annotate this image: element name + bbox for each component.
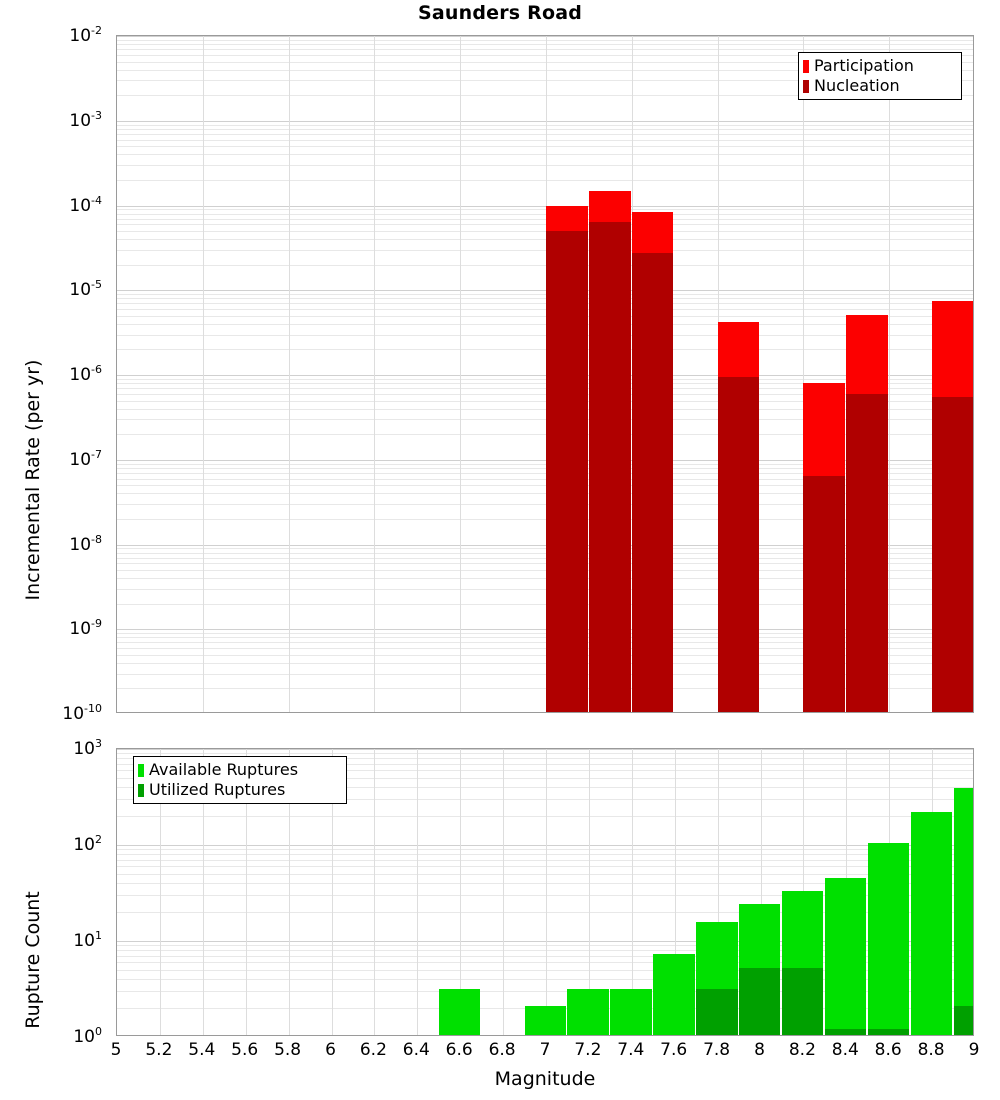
nucleation-segment	[589, 222, 631, 712]
rupture-bar	[954, 749, 974, 1035]
x-axis-tick-label: 7	[540, 1040, 551, 1060]
y-axis-tick-label: 10-5	[0, 278, 108, 300]
available-ruptures-segment	[653, 954, 694, 1035]
chart-page: Saunders Road 10-210-310-410-510-610-710…	[0, 0, 1000, 1100]
rate-bar	[589, 36, 631, 712]
available-ruptures-segment	[954, 788, 974, 1035]
available-ruptures-segment	[911, 812, 952, 1035]
rupture-bar	[610, 749, 651, 1035]
rate-bar	[846, 36, 888, 712]
rupture-bar	[739, 749, 780, 1035]
legend-label-utilized-ruptures: Utilized Ruptures	[149, 780, 285, 800]
x-axis-tick-label: 8.6	[875, 1040, 902, 1060]
available-ruptures-segment	[439, 989, 480, 1035]
utilized-ruptures-segment	[868, 1029, 909, 1035]
rupture-bar	[567, 749, 608, 1035]
y-axis-tick-label: 10-8	[0, 533, 108, 555]
x-axis-tick-label: 7.4	[617, 1040, 644, 1060]
x-axis-tick-label: 5	[111, 1040, 122, 1060]
legend-item-nucleation: Nucleation	[803, 76, 956, 96]
legend-item-utilized-ruptures: Utilized Ruptures	[138, 780, 341, 800]
rupture-bar	[525, 749, 566, 1035]
x-axis-tick-label: 8.2	[789, 1040, 816, 1060]
nucleation-segment	[546, 231, 588, 712]
available-ruptures-segment	[610, 989, 651, 1035]
y-axis-tick-label: 100	[0, 1025, 108, 1047]
nucleation-segment	[932, 397, 974, 712]
rate-bar	[803, 36, 845, 712]
top-y-axis-title: Incremental Rate (per yr)	[22, 360, 44, 601]
rupture-bar	[696, 749, 737, 1035]
bottom-y-axis-title: Rupture Count	[22, 891, 44, 1029]
legend-item-available-ruptures: Available Ruptures	[138, 760, 341, 780]
legend-label-nucleation: Nucleation	[814, 76, 900, 96]
nucleation-segment	[632, 253, 674, 712]
incremental-rate-plot	[116, 35, 974, 713]
x-axis-tick-label: 8.8	[918, 1040, 945, 1060]
available-ruptures-swatch	[138, 764, 144, 777]
x-axis-tick-label: 9	[969, 1040, 980, 1060]
rate-bar	[632, 36, 674, 712]
available-ruptures-segment	[868, 843, 909, 1035]
y-axis-tick-label: 10-10	[0, 702, 108, 724]
x-axis-tick-label: 5.4	[188, 1040, 215, 1060]
nucleation-segment	[718, 377, 760, 712]
x-axis-tick-label: 6.6	[446, 1040, 473, 1060]
legend-label-available-ruptures: Available Ruptures	[149, 760, 298, 780]
legend-label-participation: Participation	[814, 56, 914, 76]
x-axis-tick-label: 5.2	[145, 1040, 172, 1060]
utilized-ruptures-segment	[696, 989, 737, 1035]
nucleation-segment	[803, 476, 845, 712]
utilized-ruptures-segment	[825, 1029, 866, 1035]
legend-item-participation: Participation	[803, 56, 956, 76]
available-ruptures-segment	[825, 878, 866, 1035]
y-axis-tick-label: 10-9	[0, 617, 108, 639]
rupture-bar	[911, 749, 952, 1035]
x-axis-tick-label: 8	[754, 1040, 765, 1060]
available-ruptures-segment	[567, 989, 608, 1035]
x-axis-tick-label: 5.6	[231, 1040, 258, 1060]
rupture-bar	[868, 749, 909, 1035]
x-axis-tick-label: 6.4	[403, 1040, 430, 1060]
y-axis-tick-label: 10-7	[0, 448, 108, 470]
rupture-bar	[653, 749, 694, 1035]
x-axis-tick-label: 7.6	[660, 1040, 687, 1060]
utilized-ruptures-segment	[782, 968, 823, 1035]
y-axis-tick-label: 10-6	[0, 363, 108, 385]
page-title: Saunders Road	[0, 2, 1000, 24]
participation-swatch	[803, 60, 809, 73]
x-axis-tick-label: 5.8	[274, 1040, 301, 1060]
rate-bar	[718, 36, 760, 712]
bottom-legend: Available Ruptures Utilized Ruptures	[133, 756, 347, 804]
y-axis-tick-label: 101	[0, 929, 108, 951]
x-axis-tick-label: 7.8	[703, 1040, 730, 1060]
y-axis-tick-label: 10-2	[0, 24, 108, 46]
utilized-ruptures-swatch	[138, 784, 144, 797]
y-axis-tick-label: 102	[0, 833, 108, 855]
x-axis-tick-label: 6	[325, 1040, 336, 1060]
top-bar-series	[117, 36, 973, 712]
rupture-bar	[782, 749, 823, 1035]
y-axis-tick-label: 10-3	[0, 109, 108, 131]
nucleation-swatch	[803, 80, 809, 93]
y-axis-tick-label: 103	[0, 737, 108, 759]
rupture-bar	[825, 749, 866, 1035]
rupture-bar	[439, 749, 480, 1035]
x-axis-tick-label: 6.8	[489, 1040, 516, 1060]
available-ruptures-segment	[525, 1006, 566, 1035]
rate-bar	[932, 36, 974, 712]
rate-bar	[546, 36, 588, 712]
utilized-ruptures-segment	[954, 1006, 974, 1035]
utilized-ruptures-segment	[739, 968, 780, 1035]
x-axis-tick-label: 6.2	[360, 1040, 387, 1060]
top-legend: Participation Nucleation	[798, 52, 962, 100]
x-axis-tick-label: 7.2	[574, 1040, 601, 1060]
y-axis-tick-label: 10-4	[0, 194, 108, 216]
x-axis-tick-label: 8.4	[832, 1040, 859, 1060]
x-axis-title: Magnitude	[116, 1068, 974, 1090]
nucleation-segment	[846, 394, 888, 712]
